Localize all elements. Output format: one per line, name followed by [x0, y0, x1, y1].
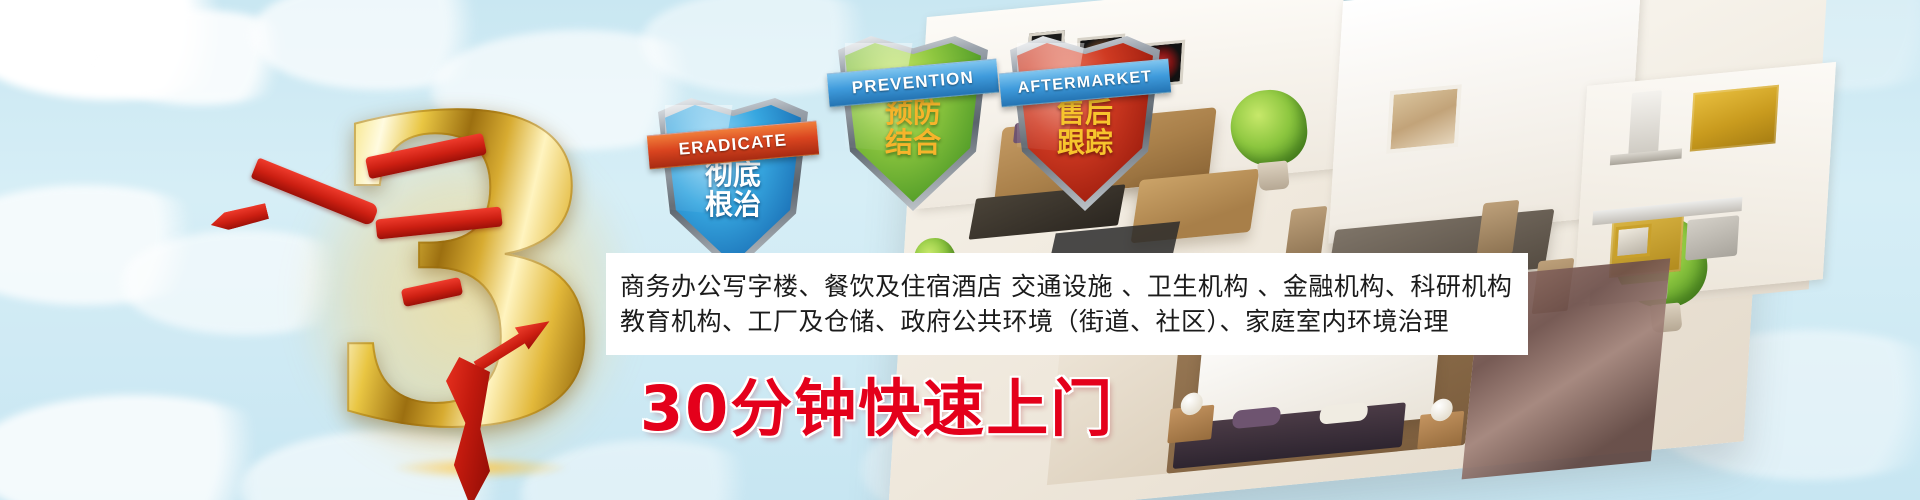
service-scope-line-1: 商务办公写字楼、餐饮及住宿酒店 交通设施 、卫生机构 、金融机构、科研机构	[620, 269, 1528, 305]
oven	[1614, 224, 1652, 260]
badge-chinese-line-2: 跟踪	[1010, 128, 1160, 158]
potted-plant	[1227, 87, 1312, 194]
promo-banner: 3 彻底 根治 ERADICATE 预防 结合 PREVENTION	[0, 0, 1920, 500]
badge-shield-eradicate: 彻底 根治 ERADICATE	[658, 98, 808, 273]
badge-english-label: AFTERMARKET	[1017, 68, 1153, 98]
badge-chinese-line-2: 根治	[658, 190, 808, 220]
badge-english-label: ERADICATE	[678, 130, 788, 159]
kitchen-sink	[1685, 215, 1739, 260]
badge-chinese-line-2: 结合	[838, 128, 988, 158]
range-hood-plate	[1610, 148, 1682, 165]
kitchen-cabinet	[1690, 85, 1779, 152]
golden-numeral-three: 3	[270, 105, 660, 495]
headline-text: 30分钟快速上门	[640, 358, 1114, 448]
service-scope-panel: 商务办公写字楼、餐饮及住宿酒店 交通设施 、卫生机构 、金融机构、科研机构 教育…	[606, 253, 1528, 355]
range-hood	[1628, 90, 1662, 156]
badge-english-label: PREVENTION	[851, 68, 975, 99]
badge-chinese-text: 预防 结合	[838, 98, 988, 157]
wall-painting-icon	[1386, 84, 1462, 154]
badge-chinese-text: 售后 跟踪	[1010, 98, 1160, 157]
badge-shield-prevention: 预防 结合 PREVENTION	[838, 36, 988, 211]
badge-chinese-text: 彻底 根治	[658, 160, 808, 219]
service-scope-line-2: 教育机构、工厂及仓储、政府公共环境（街道、社区）、家庭室内环境治理	[620, 304, 1528, 340]
badge-shield-aftermarket: 售后 跟踪 AFTERMARKET	[1010, 36, 1160, 211]
dining-chair	[1477, 200, 1520, 256]
